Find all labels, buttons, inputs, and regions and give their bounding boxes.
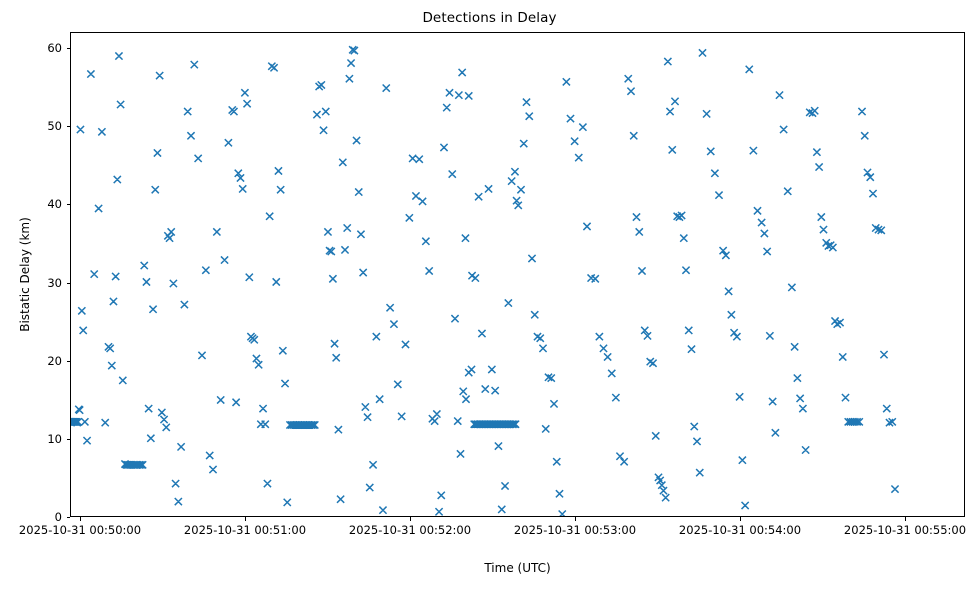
x-tick-mark [575,517,576,521]
y-tick-mark [67,48,71,49]
y-tick-mark [67,361,71,362]
plot-area [70,32,965,517]
x-tick-mark [740,517,741,521]
y-tick-label: 20 [47,354,62,368]
x-tick-mark [905,517,906,521]
y-tick-mark [67,517,71,518]
x-tick-label: 2025-10-31 00:53:00 [514,523,636,537]
x-axis-label: Time (UTC) [70,561,965,575]
y-tick-mark [67,126,71,127]
x-tick-label: 2025-10-31 00:55:00 [844,523,966,537]
y-tick-mark [67,283,71,284]
x-tick-mark [410,517,411,521]
y-tick-label: 50 [47,119,62,133]
x-tick-label: 2025-10-31 00:54:00 [679,523,801,537]
page-title: Detections in Delay [0,10,979,26]
x-tick-label: 2025-10-31 00:52:00 [349,523,471,537]
scatter-series-path [71,46,899,517]
x-tick-label: 2025-10-31 00:50:00 [19,523,141,537]
scatter-plot-figure: Detections in Delay 2025-10-31 00:50:002… [0,0,979,590]
x-tick-mark [245,517,246,521]
y-tick-label: 0 [55,510,62,524]
x-tick-mark [80,517,81,521]
y-tick-label: 10 [47,432,62,446]
y-axis-label: Bistatic Delay (km) [18,32,36,517]
y-tick-label: 40 [47,197,62,211]
y-tick-label: 60 [47,41,62,55]
y-tick-label: 30 [47,276,62,290]
y-tick-mark [67,204,71,205]
scatter-points-layer [71,33,965,517]
y-tick-mark [67,439,71,440]
x-tick-label: 2025-10-31 00:51:00 [184,523,306,537]
